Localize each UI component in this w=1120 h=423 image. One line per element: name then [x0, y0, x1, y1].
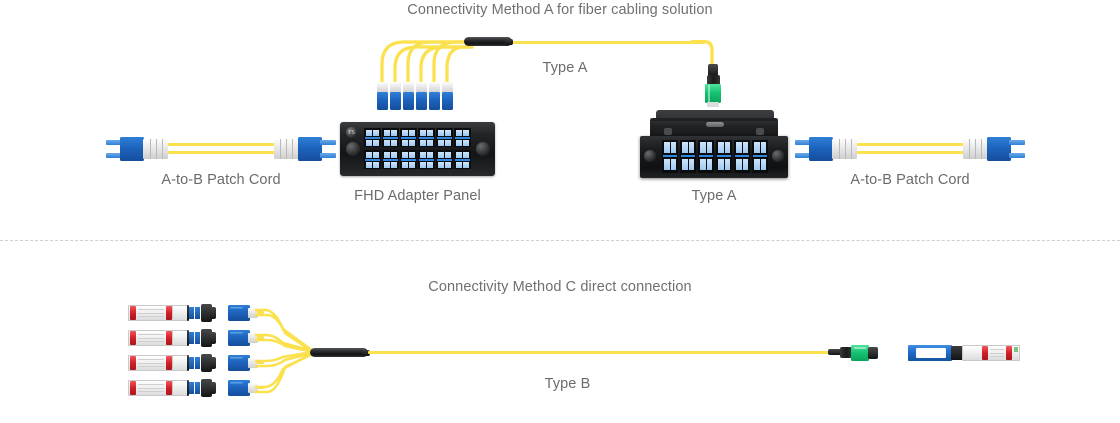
right-patch-cord: [795, 132, 1025, 166]
bottom-section-title: Connectivity Method C direct connection: [0, 279, 1120, 295]
lc-connector-icon: [376, 82, 388, 110]
cassette-thumbscrew-right: [772, 150, 784, 162]
lc-adapter: [698, 140, 714, 173]
lc-adapter: [454, 128, 471, 147]
mpo-connector-icon: [702, 64, 724, 112]
fs-logo-icon: FS: [346, 127, 357, 138]
lc-adapter: [382, 150, 399, 169]
lc-adapter: [662, 140, 678, 173]
fhd-panel-label: FHD Adapter Panel: [330, 188, 505, 204]
lc-adapter: [382, 128, 399, 147]
lc-adapter: [752, 140, 768, 173]
section-divider: [0, 240, 1120, 242]
left-patch-cord-label: A-to-B Patch Cord: [106, 172, 336, 188]
panel-thumbscrew-right: [476, 142, 490, 156]
lc-adapter: [454, 150, 471, 169]
lc-connector-icon: [441, 82, 453, 110]
lc-adapter: [418, 150, 435, 169]
sfp-transceiver-icon: [128, 303, 218, 323]
lc-connector-icon: [428, 82, 440, 110]
cassette-thumbscrew-left: [644, 150, 656, 162]
lc-connector-icon: [415, 82, 427, 110]
lc-connector-icon: [795, 132, 859, 166]
sfp-transceiver-icon: [128, 328, 218, 348]
lc-adapter: [680, 140, 696, 173]
lc-connector-icon: [402, 82, 414, 110]
trunk-cable-top: [505, 41, 705, 44]
sfp-transceiver-stack: [128, 303, 263, 398]
furcation-tube-bottom: [310, 348, 368, 357]
top-section-title: Connectivity Method A for fiber cabling …: [0, 2, 1120, 18]
fanout-lc-connectors: [376, 82, 486, 110]
panel-adapter-grid: [364, 128, 472, 170]
trunk-label-bottom: Type B: [500, 376, 635, 392]
panel-thumbscrew-left: [346, 142, 360, 156]
lc-adapter: [418, 128, 435, 147]
lc-adapter: [436, 150, 453, 169]
furcation-cap-top: [505, 39, 513, 45]
lc-connector-icon: [389, 82, 401, 110]
lc-adapter: [400, 128, 417, 147]
trunk-cable-bend: [690, 38, 720, 66]
cassette-label: Type A: [640, 188, 788, 204]
lc-adapter: [400, 150, 417, 169]
sfp-transceiver-icon: [128, 378, 218, 398]
lc-adapter: [364, 150, 381, 169]
qsfp-transceiver-icon: [908, 344, 1020, 362]
left-patch-cord: [106, 132, 336, 166]
lc-connector-icon: [106, 132, 170, 166]
mpo-connector-icon: [828, 344, 880, 362]
cassette-pull-tab: [706, 122, 724, 127]
trunk-label-top: Type A: [500, 60, 630, 76]
diagram-canvas: Connectivity Method A for fiber cabling …: [0, 0, 1120, 423]
cassette-adapter-grid: [662, 140, 768, 175]
lc-adapter: [716, 140, 732, 173]
trunk-cable-bottom: [368, 351, 834, 354]
fhd-adapter-panel: FS: [340, 122, 495, 176]
mpo-cassette: [640, 110, 788, 178]
lc-adapter: [364, 128, 381, 147]
lc-adapter: [436, 128, 453, 147]
right-patch-cord-label: A-to-B Patch Cord: [795, 172, 1025, 188]
sfp-transceiver-icon: [128, 353, 218, 373]
lc-connector-icon: [961, 132, 1025, 166]
lc-adapter: [734, 140, 750, 173]
lc-connector-icon: [272, 132, 336, 166]
